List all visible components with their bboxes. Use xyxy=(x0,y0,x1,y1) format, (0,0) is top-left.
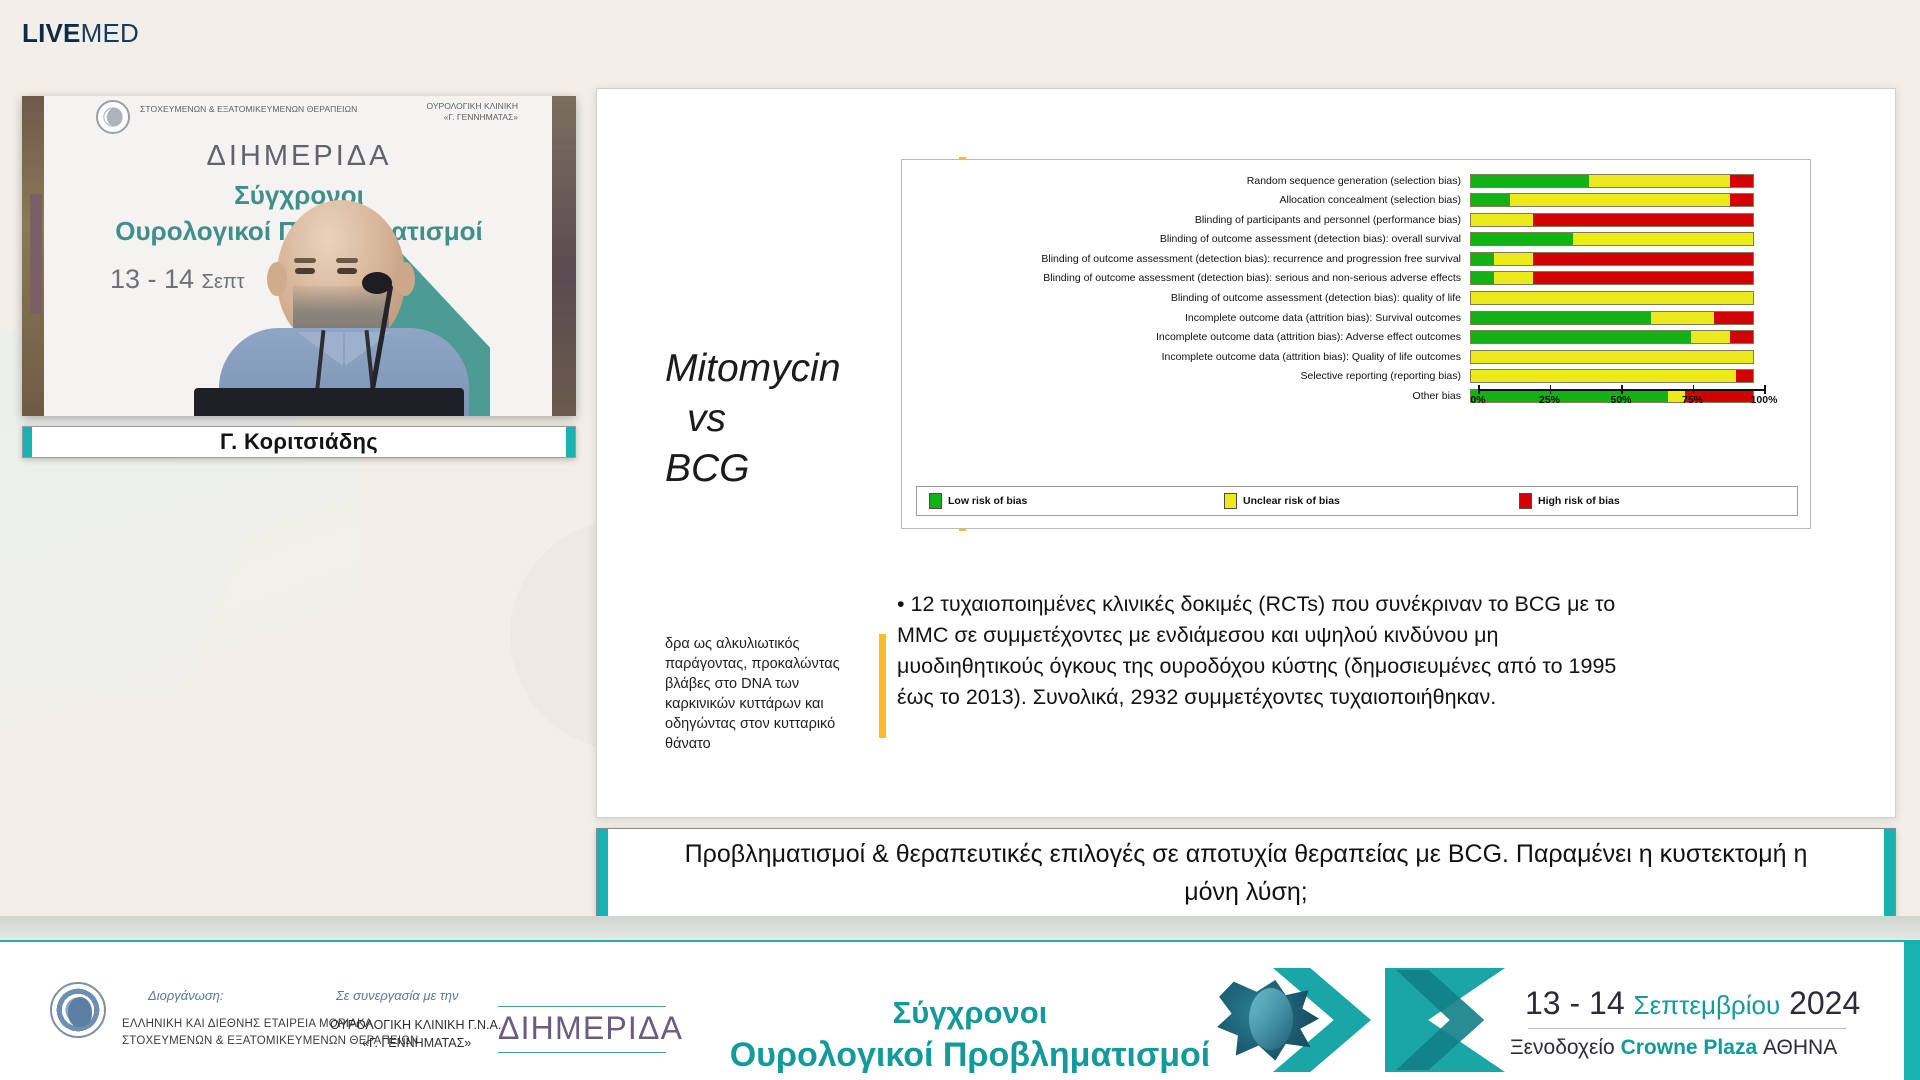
background-panel xyxy=(0,430,360,850)
risk-of-bias-segment-unclear xyxy=(1573,233,1753,245)
axis-tick-label: 75% xyxy=(1682,394,1703,406)
logo-text-med: MED xyxy=(81,18,139,48)
footer-society-seal-icon xyxy=(50,982,106,1038)
risk-of-bias-chart: Random sequence generation (selection bi… xyxy=(901,159,1811,529)
risk-of-bias-row-bar xyxy=(1470,232,1754,246)
speaker-eye-right xyxy=(337,268,357,274)
risk-of-bias-row-label: Random sequence generation (selection bi… xyxy=(902,175,1470,187)
speaker-nameplate: Γ. Κοριτσιάδης xyxy=(22,426,576,458)
backdrop-clinic-text: ΟΥΡΟΛΟΓΙΚΗ ΚΛΙΝΙΚΗ «Γ. ΓΕΝΝΗΜΑΤΑΣ» xyxy=(427,101,518,123)
presentation-slide[interactable]: Mitomycin vs BCG δρα ως αλκυλιωτικός παρ… xyxy=(596,88,1896,818)
footer-title-line2: Ουρολογικοί Προβληματισμοί xyxy=(700,1034,1240,1076)
risk-of-bias-segment-low xyxy=(1471,253,1494,265)
risk-of-bias-row-label: Allocation concealment (selection bias) xyxy=(902,194,1470,206)
video-frame[interactable]: ΣΤΟΧΕΥΜΕΝΩΝ & ΕΞΑΤΟΜΙΚΕΥΜΕΝΩΝ ΘΕΡΑΠΕΙΩΝ … xyxy=(22,96,576,416)
risk-of-bias-row: Selective reporting (reporting bias) xyxy=(902,368,1810,385)
risk-of-bias-row-bar xyxy=(1470,271,1754,285)
risk-of-bias-segment-low xyxy=(1471,272,1494,284)
risk-of-bias-row-bar xyxy=(1470,311,1754,325)
risk-of-bias-segment-low xyxy=(1471,312,1651,324)
risk-of-bias-row-label: Blinding of outcome assessment (detectio… xyxy=(902,272,1470,284)
risk-of-bias-segment-high xyxy=(1533,214,1753,226)
risk-of-bias-segment-high xyxy=(1533,253,1753,265)
speaker-name: Γ. Κοριτσιάδης xyxy=(220,429,378,455)
risk-of-bias-segment-low xyxy=(1471,175,1589,187)
footer-dates-number: 13 - 14 xyxy=(1525,985,1625,1021)
risk-of-bias-row: Allocation concealment (selection bias) xyxy=(902,192,1810,209)
legend-label: Unclear risk of bias xyxy=(1243,495,1340,507)
footer-event-title: Σύγχρονοι Ουρολογικοί Προβληματισμοί xyxy=(700,992,1240,1076)
risk-of-bias-segment-low xyxy=(1471,233,1573,245)
risk-of-bias-segment-unclear xyxy=(1691,331,1730,343)
nameplate-accent-right xyxy=(566,427,575,457)
risk-of-bias-row: Incomplete outcome data (attrition bias)… xyxy=(902,348,1810,365)
axis-tick-label: 25% xyxy=(1539,394,1560,406)
slide-body-text: • 12 τυχαιοποιημένες κλινικές δοκιμές (R… xyxy=(897,589,1627,713)
backdrop-kicker: ΔΙΗΜΕΡΙΔΑ xyxy=(44,140,554,173)
page-header: LIVEMED xyxy=(0,0,1920,62)
footer-title-line1: Σύγχρονοι xyxy=(700,992,1240,1034)
risk-of-bias-segment-unclear xyxy=(1471,214,1533,226)
slide-title-line1: Mitomycin xyxy=(665,347,841,390)
footer-cooperation-label: Σε συνεργασία με την xyxy=(336,988,458,1003)
risk-of-bias-row-label: Incomplete outcome data (attrition bias)… xyxy=(902,331,1470,343)
backdrop-dates-number: 13 - 14 xyxy=(110,264,194,294)
footer-top-band xyxy=(0,916,1920,940)
footer-right-accent xyxy=(1904,940,1920,1080)
risk-of-bias-row: Blinding of participants and personnel (… xyxy=(902,211,1810,228)
risk-of-bias-row-bar xyxy=(1470,291,1754,305)
risk-of-bias-row: Blinding of outcome assessment (detectio… xyxy=(902,270,1810,287)
legend-swatch xyxy=(1519,493,1532,509)
risk-of-bias-row-bar xyxy=(1470,369,1754,383)
speaker-ear-right xyxy=(395,262,415,296)
caption-text: Προβληματισμοί & θεραπευτικές επιλογές σ… xyxy=(656,835,1836,911)
risk-of-bias-segment-unclear xyxy=(1494,253,1533,265)
backdrop-clinic-line2: «Γ. ΓΕΝΝΗΜΑΤΑΣ» xyxy=(444,112,518,122)
video-right-wall xyxy=(552,96,576,416)
footer-dates: 13 - 14 Σεπτεμβρίου 2024 xyxy=(1525,985,1865,1022)
risk-of-bias-row: Blinding of outcome assessment (detectio… xyxy=(902,231,1810,248)
risk-of-bias-axis: 0%25%50%75%100% xyxy=(1478,385,1764,411)
risk-of-bias-segment-unclear xyxy=(1471,351,1753,363)
risk-of-bias-row-label: Incomplete outcome data (attrition bias)… xyxy=(902,351,1470,363)
legend-item: Unclear risk of bias xyxy=(1212,493,1507,509)
risk-of-bias-segment-unclear xyxy=(1471,292,1753,304)
footer-dates-rule xyxy=(1528,1028,1846,1029)
risk-of-bias-row: Blinding of outcome assessment (detectio… xyxy=(902,250,1810,267)
axis-tick xyxy=(1621,385,1623,394)
slide-side-note: δρα ως αλκυλιωτικός παράγοντας, προκαλών… xyxy=(665,634,870,754)
legend-swatch xyxy=(1224,493,1237,509)
risk-of-bias-segment-unclear xyxy=(1589,175,1730,187)
page-footer: Διοργάνωση: ΕΛΛΗΝΙΚΗ ΚΑΙ ΔΙΕΘΝΗΣ ΕΤΑΙΡΕΙ… xyxy=(0,940,1920,1080)
caption-accent-left xyxy=(597,829,608,917)
speaker-ear-left xyxy=(267,262,287,296)
risk-of-bias-row-label: Selective reporting (reporting bias) xyxy=(902,370,1470,382)
footer-dates-year: 2024 xyxy=(1789,985,1860,1021)
risk-of-bias-segment-high xyxy=(1730,194,1753,206)
microphone-icon xyxy=(362,272,392,294)
footer-splash-highlight xyxy=(1249,988,1293,1050)
risk-of-bias-segment-high xyxy=(1736,370,1753,382)
risk-of-bias-legend: Low risk of biasUnclear risk of biasHigh… xyxy=(916,486,1798,516)
conference-backdrop-banner: ΣΤΟΧΕΥΜΕΝΩΝ & ΕΞΑΤΟΜΙΚΕΥΜΕΝΩΝ ΘΕΡΑΠΕΙΩΝ … xyxy=(44,96,554,416)
risk-of-bias-row-bar xyxy=(1470,330,1754,344)
speaker-figure xyxy=(219,200,469,416)
risk-of-bias-row: Incomplete outcome data (attrition bias)… xyxy=(902,329,1810,346)
footer-venue-city: ΑΘΗΝΑ xyxy=(1763,1036,1837,1059)
axis-tick xyxy=(1693,385,1695,394)
risk-of-bias-segment-unclear xyxy=(1471,370,1736,382)
footer-cooperation-line2: «Γ. ΓΕΝΝΗΜΑΤΑΣ» xyxy=(362,1036,471,1050)
risk-of-bias-segment-high xyxy=(1714,312,1753,324)
risk-of-bias-row-label: Blinding of outcome assessment (detectio… xyxy=(902,253,1470,265)
podium xyxy=(194,388,464,416)
caption-accent-right xyxy=(1884,829,1895,917)
axis-tick-label: 100% xyxy=(1751,394,1778,406)
footer-cooperation-line1: ΟΥΡΟΛΟΓΙΚΗ ΚΛΙΝΙΚΗ Γ.Ν.Α. xyxy=(330,1018,501,1032)
logo-text-live: LIVE xyxy=(22,18,81,48)
nameplate-accent-left xyxy=(23,427,32,457)
risk-of-bias-segment-high xyxy=(1730,331,1753,343)
risk-of-bias-segment-low xyxy=(1471,331,1691,343)
axis-tick-label: 50% xyxy=(1610,394,1631,406)
axis-tick xyxy=(1550,385,1552,394)
risk-of-bias-segment-unclear xyxy=(1494,272,1533,284)
livemed-logo[interactable]: LIVEMED xyxy=(22,18,139,49)
backdrop-organizer-text: ΣΤΟΧΕΥΜΕΝΩΝ & ΕΞΑΤΟΜΙΚΕΥΜΕΝΩΝ ΘΕΡΑΠΕΙΩΝ xyxy=(140,104,357,115)
legend-label: Low risk of bias xyxy=(948,495,1027,507)
risk-of-bias-row: Incomplete outcome data (attrition bias)… xyxy=(902,309,1810,326)
footer-dates-month: Σεπτεμβρίου xyxy=(1634,990,1781,1020)
footer-logo-mark xyxy=(1215,968,1395,1072)
axis-tick xyxy=(1764,385,1766,394)
legend-label: High risk of bias xyxy=(1538,495,1620,507)
risk-of-bias-row: Blinding of outcome assessment (detectio… xyxy=(902,290,1810,307)
video-left-accent xyxy=(30,194,42,314)
risk-of-bias-segment-high xyxy=(1533,272,1753,284)
risk-of-bias-rows: Random sequence generation (selection bi… xyxy=(902,172,1810,407)
session-caption-bar: Προβληματισμοί & θεραπευτικές επιλογές σ… xyxy=(596,828,1896,918)
speaker-brow-right xyxy=(336,258,358,263)
risk-of-bias-row-bar xyxy=(1470,350,1754,364)
backdrop-clinic-line1: ΟΥΡΟΛΟΓΙΚΗ ΚΛΙΝΙΚΗ xyxy=(427,101,518,111)
speaker-eye-left xyxy=(295,268,315,274)
slide-side-note-bar xyxy=(879,634,886,738)
risk-of-bias-row-label: Incomplete outcome data (attrition bias)… xyxy=(902,312,1470,324)
risk-of-bias-row-label: Blinding of outcome assessment (detectio… xyxy=(902,292,1470,304)
risk-of-bias-row: Random sequence generation (selection bi… xyxy=(902,172,1810,189)
legend-item: Low risk of bias xyxy=(917,493,1212,509)
legend-item: High risk of bias xyxy=(1507,493,1620,509)
footer-hairline xyxy=(0,940,1920,942)
footer-venue: Ξενοδοχείο Crowne Plaza ΑΘΗΝΑ xyxy=(1510,1036,1870,1060)
axis-tick-label: 0% xyxy=(1470,394,1485,406)
risk-of-bias-row-bar xyxy=(1470,213,1754,227)
backdrop-society-seal-icon xyxy=(96,100,130,134)
risk-of-bias-segment-low xyxy=(1471,194,1510,206)
axis-tick xyxy=(1478,385,1480,394)
risk-of-bias-row-label: Blinding of outcome assessment (detectio… xyxy=(902,233,1470,245)
footer-venue-brand: Crowne Plaza xyxy=(1621,1036,1758,1059)
footer-venue-prefix: Ξενοδοχείο xyxy=(1510,1036,1615,1059)
legend-swatch xyxy=(929,493,942,509)
speaker-brow-left xyxy=(294,258,316,263)
risk-of-bias-row-label: Other bias xyxy=(902,390,1470,402)
footer-organizer-label: Διοργάνωση: xyxy=(148,988,224,1003)
risk-of-bias-row-bar xyxy=(1470,174,1754,188)
footer-chevron-right-icon xyxy=(1385,968,1505,1072)
risk-of-bias-row-bar xyxy=(1470,193,1754,207)
risk-of-bias-row-label: Blinding of participants and personnel (… xyxy=(902,214,1470,226)
risk-of-bias-segment-high xyxy=(1730,175,1753,187)
risk-of-bias-row-bar xyxy=(1470,252,1754,266)
risk-of-bias-segment-unclear xyxy=(1510,194,1730,206)
speaker-video-panel[interactable]: ΣΤΟΧΕΥΜΕΝΩΝ & ΕΞΑΤΟΜΙΚΕΥΜΕΝΩΝ ΘΕΡΑΠΕΙΩΝ … xyxy=(22,96,576,458)
footer-event-kicker: ΔΙΗΜΕΡΙΔΑ xyxy=(498,1006,666,1053)
risk-of-bias-segment-unclear xyxy=(1651,312,1713,324)
